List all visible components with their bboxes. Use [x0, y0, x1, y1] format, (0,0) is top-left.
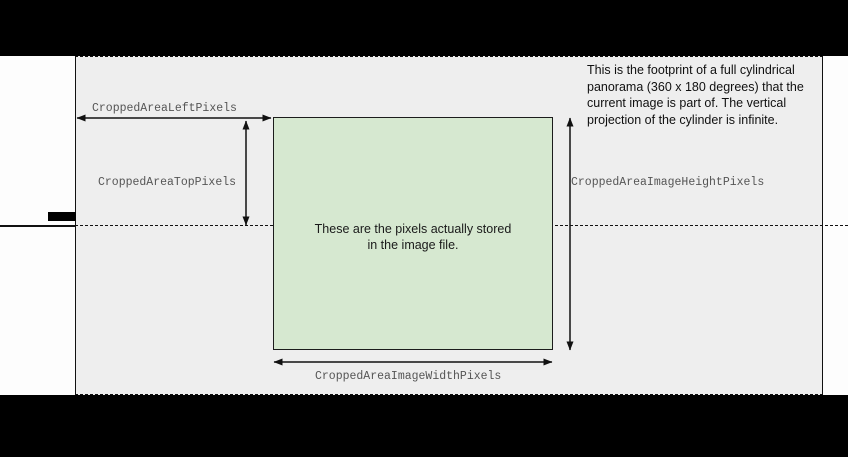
- horizon-line-left-segment: [0, 225, 76, 227]
- label-cropped-area-top-pixels: CroppedAreaTopPixels: [98, 176, 236, 189]
- stored-pixels-note-line-1: These are the pixels actually stored: [315, 222, 512, 236]
- stored-pixels-note: These are the pixels actually stored in …: [274, 221, 552, 253]
- stored-pixels-note-line-2: in the image file.: [367, 238, 458, 252]
- label-cropped-area-left-pixels: CroppedAreaLeftPixels: [92, 102, 237, 115]
- origin-marker-block: [48, 212, 76, 221]
- diagram-canvas: These are the pixels actually stored in …: [0, 0, 848, 457]
- stored-pixels-region: These are the pixels actually stored in …: [273, 117, 553, 350]
- footprint-description-text: This is the footprint of a full cylindri…: [587, 62, 833, 128]
- label-cropped-area-image-width-pixels: CroppedAreaImageWidthPixels: [315, 370, 501, 383]
- label-cropped-area-image-height-pixels: CroppedAreaImageHeightPixels: [571, 176, 764, 189]
